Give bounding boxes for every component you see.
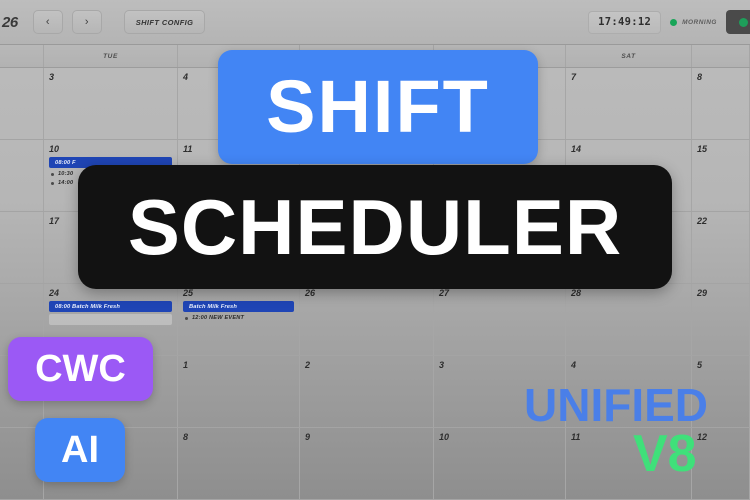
day-cell-12[interactable]: 12 [692,428,750,499]
day-cell-empty[interactable] [0,68,44,139]
day-number: 28 [571,288,686,298]
event-list-label: 10:30 [58,171,73,177]
status-active-dot-icon [739,18,748,27]
shift-title-banner: SHIFT [218,50,538,164]
cwc-badge-text: CWC [35,348,126,391]
event-bullet-icon [51,173,54,176]
day-cell-3[interactable]: 3 [44,68,178,139]
day-cell-1[interactable]: 1 [178,356,300,427]
day-number: 1 [183,360,294,370]
ai-badge: AI [35,418,125,482]
day-number: 24 [49,288,172,298]
day-number: 8 [183,432,294,442]
top-toolbar: 26 ‹ › SHIFT CONFIG 17:49:12 MORNING [0,0,750,45]
next-period-button[interactable]: › [72,10,102,34]
shift-config-button[interactable]: SHIFT CONFIG [124,10,206,34]
day-cell-27[interactable]: 27 [434,284,566,355]
day-number: 14 [571,144,686,154]
weekday-header-sat: SAT [566,45,692,67]
day-cell-8[interactable]: 8 [178,428,300,499]
day-cell-29[interactable]: 29 [692,284,750,355]
toolbar-right-group: 17:49:12 MORNING [588,10,744,34]
cwc-badge: CWC [8,337,153,401]
event-bar[interactable]: 08:00 Batch Milk Fresh [49,301,172,312]
day-cell-25[interactable]: 25Batch Milk Fresh12:00 NEW EVENT [178,284,300,355]
day-number: 7 [571,72,686,82]
unified-watermark: UNIFIED [524,382,708,428]
event-placeholder-bar[interactable] [49,314,172,325]
event-bar[interactable]: Batch Milk Fresh [183,301,294,312]
event-bar-label: 08:00 F [55,160,76,166]
day-number: 9 [305,432,428,442]
day-number: 8 [697,72,744,82]
event-list-label: 12:00 NEW EVENT [192,315,244,321]
day-cell-empty[interactable] [0,140,44,211]
clock-time: 17:49:12 [598,16,651,28]
event-bar-label: Batch Milk Fresh [189,304,237,310]
shift-scheduler-app: 26 ‹ › SHIFT CONFIG 17:49:12 MORNING TUE… [0,0,750,500]
scheduler-title-text: SCHEDULER [128,188,622,266]
day-number: 3 [49,72,172,82]
prev-period-button[interactable]: ‹ [33,10,63,34]
day-cell-7[interactable]: 7 [566,68,692,139]
event-bar-label: 08:00 Batch Milk Fresh [55,304,120,310]
chevron-left-icon: ‹ [46,16,50,28]
shift-title-text: SHIFT [266,70,490,144]
shift-status-label: MORNING [682,19,717,26]
day-number: 3 [439,360,560,370]
status-toggle-button[interactable] [726,10,750,34]
status-dot-icon [670,19,677,26]
clock-display: 17:49:12 [588,11,661,34]
day-number: 27 [439,288,560,298]
version-watermark: V8 [633,428,697,480]
day-cell-empty[interactable] [0,212,44,283]
day-cell-2[interactable]: 2 [300,356,434,427]
weekday-header-tue: TUE [44,45,178,67]
day-number: 10 [439,432,560,442]
shift-config-label: SHIFT CONFIG [136,18,194,27]
event-list-item[interactable]: 12:00 NEW EVENT [183,315,294,321]
day-number: 15 [697,144,744,154]
day-number: 26 [305,288,428,298]
day-cell-28[interactable]: 28 [566,284,692,355]
scheduler-title-banner: SCHEDULER [78,165,672,289]
month-year-label: 26 [2,14,24,31]
weekday-header-blank-0 [0,45,44,67]
day-cell-8[interactable]: 8 [692,68,750,139]
day-cell-9[interactable]: 9 [300,428,434,499]
chevron-right-icon: › [85,16,89,28]
day-number: 5 [697,360,744,370]
event-list-label: 14:00 [58,180,73,186]
day-number: 2 [305,360,428,370]
event-bullet-icon [185,317,188,320]
event-bullet-icon [51,182,54,185]
shift-status-indicator: MORNING [670,19,717,26]
day-cell-22[interactable]: 22 [692,212,750,283]
day-cell-26[interactable]: 26 [300,284,434,355]
day-cell-10[interactable]: 10 [434,428,566,499]
ai-badge-text: AI [61,429,99,472]
day-number: 22 [697,216,744,226]
weekday-header-blank-6 [692,45,750,67]
day-number: 4 [571,360,686,370]
day-number: 25 [183,288,294,298]
day-cell-15[interactable]: 15 [692,140,750,211]
day-number: 12 [697,432,744,442]
day-number: 29 [697,288,744,298]
day-number: 10 [49,144,172,154]
